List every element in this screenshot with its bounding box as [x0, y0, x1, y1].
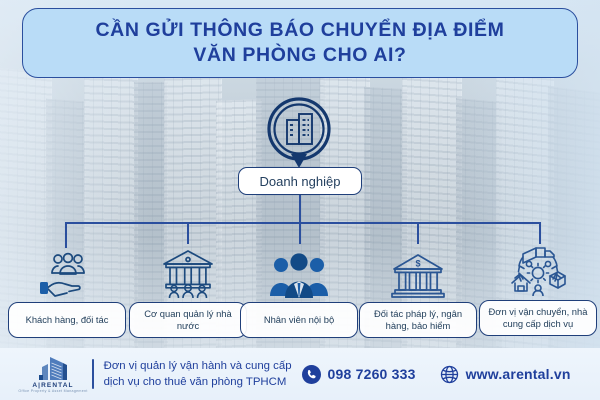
- infographic-canvas: CẦN GỬI THÔNG BÁO CHUYỂN ĐỊA ĐIỂM VĂN PH…: [0, 0, 600, 400]
- arental-building-logo-icon: A|RENTAL Office Property & Asset Managem…: [16, 355, 90, 394]
- title-line-1: CẦN GỬI THÔNG BÁO CHUYỂN ĐỊA ĐIỂM: [95, 19, 504, 42]
- footer-tagline: Đơn vị quản lý vận hành và cung cấp dịch…: [104, 358, 292, 390]
- phone-number: 098 7260 333: [328, 366, 416, 382]
- footer-phone[interactable]: 098 7260 333: [302, 365, 416, 384]
- website-url: www.arental.vn: [466, 366, 571, 382]
- branch-node-3: Nhân viên nội bộ: [240, 240, 358, 338]
- branch-label-3: Nhân viên nội bộ: [240, 302, 358, 338]
- page-title: CẦN GỬI THÔNG BÁO CHUYỂN ĐỊA ĐIỂM VĂN PH…: [22, 8, 578, 78]
- hand-holding-people-icon: [8, 240, 126, 298]
- branch-label-4: Đối tác pháp lý, ngân hàng, bảo hiểm: [359, 302, 477, 338]
- logo-wordmark: A|RENTAL: [32, 382, 73, 389]
- connector-center-stem: [299, 195, 301, 223]
- footer-bar: A|RENTAL Office Property & Asset Managem…: [0, 348, 600, 400]
- tagline-line-2: dịch vụ cho thuê văn phòng TPHCM: [104, 374, 292, 390]
- office-building-pin-icon: [262, 96, 336, 178]
- government-building-icon: [129, 240, 247, 298]
- tagline-line-1: Đơn vị quản lý vận hành và cung cấp: [104, 358, 292, 374]
- branch-node-5: Đơn vị vận chuyển, nhà cung cấp dịch vụ: [479, 238, 597, 336]
- svg-text:$: $: [415, 259, 420, 269]
- bank-building-icon: $: [359, 240, 477, 298]
- center-node-label: Doanh nghiệp: [238, 167, 362, 195]
- footer-website[interactable]: www.arental.vn: [440, 365, 571, 384]
- phone-icon: [302, 365, 321, 384]
- footer-divider: [92, 359, 94, 389]
- globe-icon: [440, 365, 459, 384]
- branch-node-1: Khách hàng, đối tác: [8, 240, 126, 338]
- logo-subtitle: Office Property & Asset Management: [18, 389, 87, 393]
- connector-horizontal-bus: [66, 222, 540, 224]
- branch-label-5: Đơn vị vận chuyển, nhà cung cấp dịch vụ: [479, 300, 597, 336]
- team-group-icon: [240, 240, 358, 298]
- branch-node-4: $ Đối tác pháp lý, ngân hàng, bảo hiểm: [359, 240, 477, 338]
- title-line-2: VĂN PHÒNG CHO AI?: [193, 44, 406, 67]
- branch-label-2: Cơ quan quản lý nhà nước: [129, 302, 247, 338]
- logistics-cycle-icon: [479, 238, 597, 296]
- branch-node-2: Cơ quan quản lý nhà nước: [129, 240, 247, 338]
- branch-label-1: Khách hàng, đối tác: [8, 302, 126, 338]
